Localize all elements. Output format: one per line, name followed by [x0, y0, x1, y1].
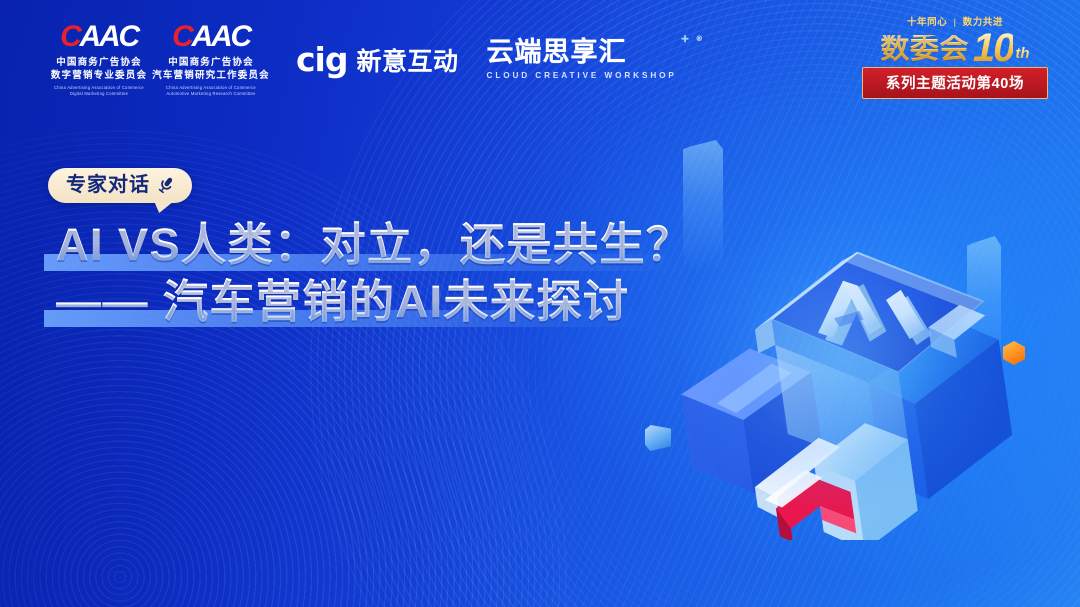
poster-canvas: CAAC 中国商务广告协会 数字营销专业委员会 China Advertisin… [0, 0, 1080, 607]
tag-tail [154, 201, 174, 213]
caac-wordmark-rest: AAC [80, 20, 138, 53]
caac2-cn-line2: 汽车营销研究工作委员会 [152, 69, 270, 82]
orange-hexagon-icon [1003, 341, 1025, 365]
anniversary-kicker-left: 十年同心 [907, 18, 947, 28]
caac2-en-block: China Advertising Association of Commerc… [154, 85, 267, 97]
anniversary-ordinal: th [1015, 46, 1029, 61]
cloud-en-label: CLOUD CREATIVE WORKSHOP [487, 71, 677, 80]
caac-cn-line2: 数字营销专业委员会 [46, 69, 152, 82]
caac2-cn-line1: 中国商务广告协会 [152, 56, 270, 69]
title-line-1: AI VS人类：对立，还是共生？ [56, 219, 693, 270]
caac-en-line2: Digital Marketing Committee [48, 91, 150, 97]
logo-caac-digital-marketing: CAAC 中国商务广告协会 数字营销专业委员会 China Advertisin… [46, 22, 152, 98]
microphone-icon [156, 175, 176, 195]
expert-dialogue-tag-wrap: 专家对话 [48, 168, 192, 203]
anniversary-session-banner: 系列主题活动第40场 [862, 67, 1048, 99]
expert-dialogue-tag: 专家对话 [48, 168, 192, 203]
cig-cn-label: 新意互动 [357, 42, 459, 78]
page-title: AI VS人类：对立，还是共生？ —— 汽车营销的AI未来探讨 [56, 222, 693, 324]
caac-wordmark-c: C [60, 20, 79, 53]
logo-cig: cig 新意互动 [296, 42, 459, 78]
registered-mark-icon: ® [697, 36, 703, 43]
caac2-cn-block: 中国商务广告协会 汽车营销研究工作委员会 [152, 56, 270, 83]
anniversary-kicker: 十年同心 | 数力共进 [862, 18, 1048, 28]
anniversary-name: 数委会 [880, 35, 969, 64]
title-line-2: —— 汽车营销的AI未来探讨 [56, 276, 630, 327]
title-line-1-row: AI VS人类：对立，还是共生？ [56, 222, 693, 267]
light-pillar-right [967, 236, 1001, 376]
ai-cube-artwork [648, 180, 1038, 540]
caac-en-block: China Advertising Association of Commerc… [48, 85, 150, 97]
cloud-cn-text: 云端思享汇 [487, 37, 627, 67]
title-line-2-row: —— 汽车营销的AI未来探讨 [56, 279, 693, 324]
logo-cloud-creative-workshop: 云端思享汇 + ® CLOUD CREATIVE WORKSHOP [487, 39, 677, 80]
caac-cn-line1: 中国商务广告协会 [46, 56, 152, 69]
caac-wordmark: CAAC [46, 22, 152, 52]
cig-wordmark: cig [296, 43, 348, 76]
anniversary-badge: 十年同心 | 数力共进 数委会 10 th 系列主题活动第40场 [862, 18, 1048, 99]
cube-glow [678, 210, 1008, 510]
anniversary-main: 数委会 10 th [862, 32, 1048, 65]
anniversary-number: 10 [973, 32, 1014, 65]
caac2-wordmark: CAAC [152, 22, 270, 52]
anniversary-session-text: 系列主题活动第40场 [886, 76, 1024, 92]
partner-logo-bar: CAAC 中国商务广告协会 数字营销专业委员会 China Advertisin… [46, 22, 677, 98]
expert-dialogue-label: 专家对话 [66, 175, 150, 195]
anniversary-kicker-separator: | [953, 18, 956, 28]
caac-cn-block: 中国商务广告协会 数字营销专业委员会 [46, 56, 152, 83]
logo-caac-automotive-research: CAAC 中国商务广告协会 汽车营销研究工作委员会 China Advertis… [152, 22, 270, 98]
blue-shard-icon [645, 425, 671, 451]
caac2-wordmark-rest: AAC [192, 20, 250, 53]
caac2-wordmark-c: C [172, 20, 191, 53]
caac2-en-line2: Automotive Marketing Research Committee [154, 91, 267, 97]
cloud-cn-label: 云端思享汇 + ® [487, 39, 677, 66]
cloud-plus-icon: + [681, 32, 690, 45]
ai-cube-svg [648, 180, 1038, 540]
